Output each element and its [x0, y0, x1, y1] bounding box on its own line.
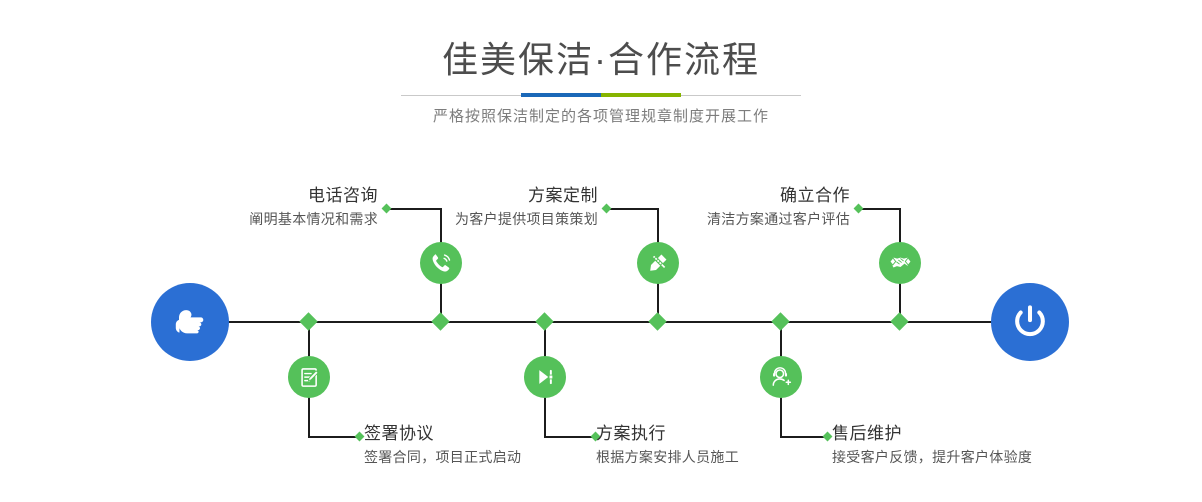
step-4-title: 方案执行 [596, 422, 846, 446]
step-3-label: 方案定制 为客户提供项目策策划 [373, 184, 598, 230]
process-timeline: 电话咨询 阐明基本情况和需求 签署协议 签署合同，项目正式启动 [0, 160, 1202, 502]
step-4-label: 方案执行 根据方案安排人员施工 [596, 422, 846, 468]
step-2-title: 签署协议 [364, 422, 614, 446]
step-6-title: 售后维护 [832, 422, 1092, 446]
power-icon [1008, 300, 1052, 344]
step-1-icon-node[interactable] [420, 242, 462, 284]
pencil-ruler-icon [645, 250, 671, 276]
step-5-desc: 清洁方案通过客户评估 [620, 208, 850, 230]
step-6-desc: 接受客户反馈，提升客户体验度 [832, 446, 1092, 468]
timeline-axis [222, 321, 1000, 323]
phone-call-icon [428, 250, 454, 276]
step-5-label-marker [854, 204, 864, 214]
divider-blue-segment [521, 93, 601, 97]
step-6-axis-marker [771, 312, 789, 330]
customer-service-add-icon [768, 364, 794, 390]
handshake-icon [887, 250, 914, 277]
thumb-point-icon [168, 300, 212, 344]
step-6-icon-node[interactable] [760, 356, 802, 398]
step-2-desc: 签署合同，项目正式启动 [364, 446, 614, 468]
page-subtitle: 严格按照保洁制定的各项管理规章制度开展工作 [0, 105, 1202, 129]
step-1-title: 电话咨询 [153, 184, 378, 208]
step-1-axis-marker [431, 312, 449, 330]
step-2-label-marker [355, 432, 365, 442]
divider-green-segment [601, 93, 681, 97]
step-4-desc: 根据方案安排人员施工 [596, 446, 846, 468]
step-3-icon-node[interactable] [637, 242, 679, 284]
step-4-icon-node[interactable] [524, 356, 566, 398]
step-5-icon-node[interactable] [879, 242, 921, 284]
page-title: 佳美保洁·合作流程 [0, 38, 1202, 82]
step-5-axis-marker [890, 312, 908, 330]
step-6-connector-horizontal [780, 436, 828, 438]
step-5-label: 确立合作 清洁方案通过客户评估 [620, 184, 850, 230]
step-4-axis-marker [535, 312, 553, 330]
step-6-label: 售后维护 接受客户反馈，提升客户体验度 [832, 422, 1092, 468]
step-1-desc: 阐明基本情况和需求 [153, 208, 378, 230]
step-3-axis-marker [648, 312, 666, 330]
step-3-desc: 为客户提供项目策策划 [373, 208, 598, 230]
step-5-title: 确立合作 [620, 184, 850, 208]
step-3-title: 方案定制 [373, 184, 598, 208]
end-node[interactable] [991, 283, 1069, 361]
step-2-icon-node[interactable] [288, 356, 330, 398]
title-divider [401, 93, 801, 97]
play-execute-icon [532, 364, 558, 390]
step-2-axis-marker [299, 312, 317, 330]
step-2-label: 签署协议 签署合同，项目正式启动 [364, 422, 614, 468]
step-2-connector-horizontal [308, 436, 360, 438]
step-1-label: 电话咨询 阐明基本情况和需求 [153, 184, 378, 230]
document-sign-icon [297, 365, 322, 390]
step-4-connector-horizontal [544, 436, 596, 438]
step-3-label-marker [602, 204, 612, 214]
step-5-connector-horizontal [859, 208, 901, 210]
start-node[interactable] [151, 283, 229, 361]
page-header: 佳美保洁·合作流程 严格按照保洁制定的各项管理规章制度开展工作 [0, 0, 1202, 145]
